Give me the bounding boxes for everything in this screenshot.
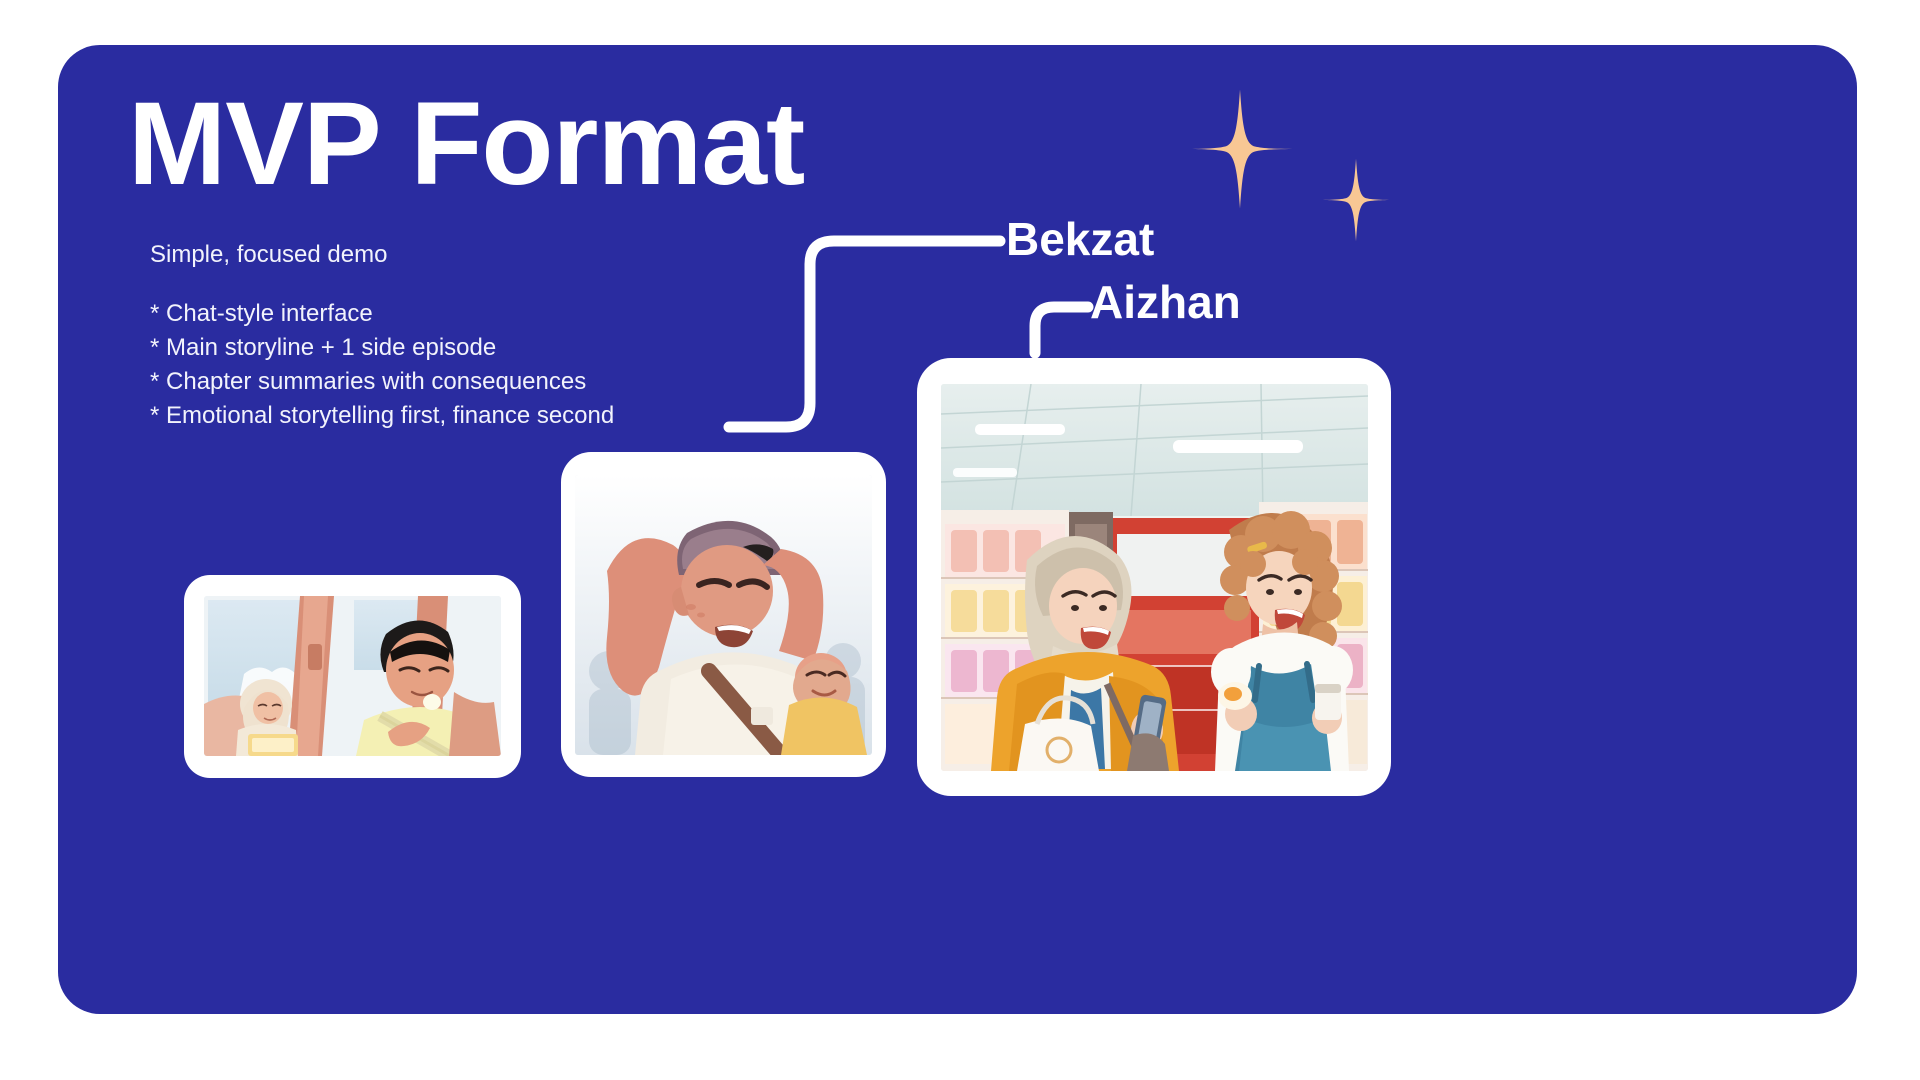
body-text-block: Simple, focused demo * Chat-style interf…	[150, 243, 614, 433]
sparkle-icon-large	[1178, 87, 1302, 211]
image-card-car-scene[interactable]	[184, 575, 521, 778]
page-title: MVP Format	[128, 85, 804, 203]
illustration-store-scene	[941, 384, 1368, 771]
bullet-item-1: * Chat-style interface	[150, 297, 614, 331]
slide-root: MVP Format Simple, focused demo * Chat-s…	[0, 0, 1920, 1080]
illustration-car-scene	[204, 596, 501, 756]
image-card-stressed-guy[interactable]	[561, 452, 886, 777]
sparkle-icon-small	[1313, 157, 1399, 243]
lead-text: Simple, focused demo	[150, 243, 614, 267]
slide-panel: MVP Format Simple, focused demo * Chat-s…	[58, 45, 1857, 1014]
bullet-item-2: * Main storyline + 1 side episode	[150, 331, 614, 365]
character-label-bekzat: Bekzat	[1006, 216, 1154, 262]
bullet-item-4: * Emotional storytelling first, finance …	[150, 399, 614, 433]
illustration-stressed-guy	[575, 475, 872, 755]
bullet-item-3: * Chapter summaries with consequences	[150, 365, 614, 399]
image-card-store-scene[interactable]	[917, 358, 1391, 796]
bullet-list: * Chat-style interface * Main storyline …	[150, 297, 614, 433]
character-label-aizhan: Aizhan	[1090, 279, 1241, 325]
